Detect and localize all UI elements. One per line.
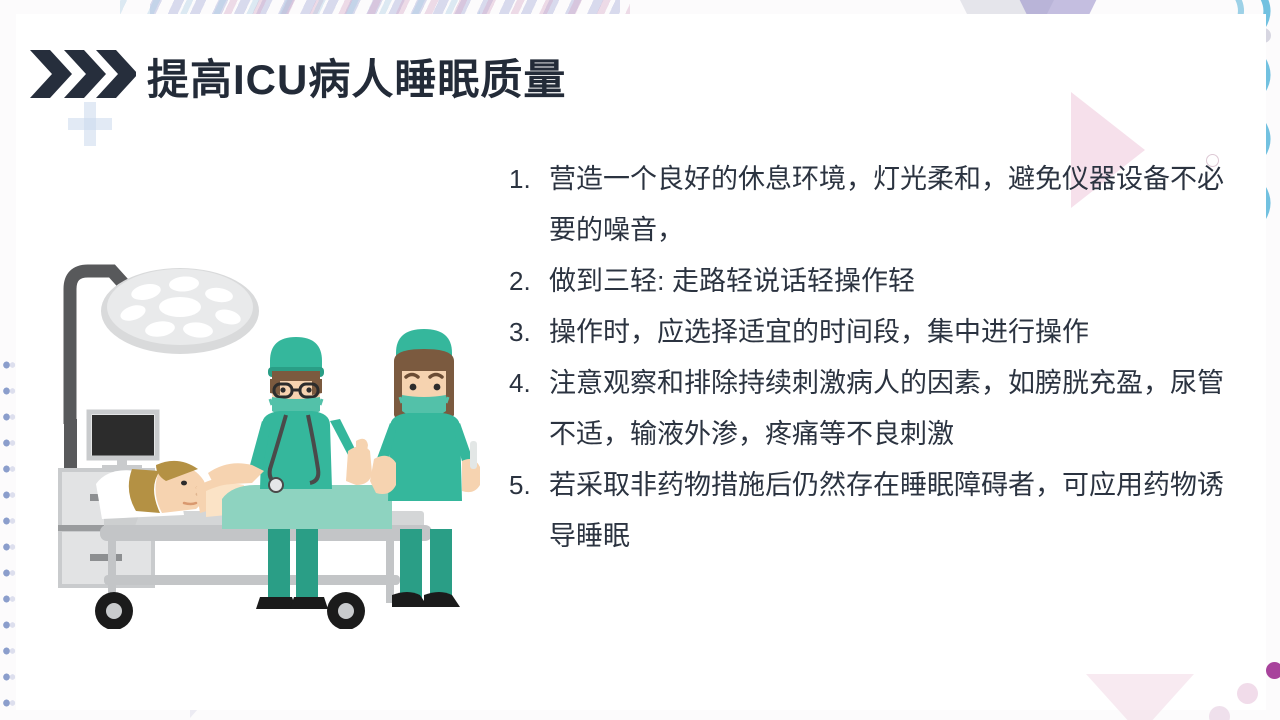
list-item-number: 2. [509,256,549,307]
slide-root: 提高ICU病人睡眠质量 [0,0,1280,720]
list-item-number: 3. [509,307,549,358]
list-item: 3. 操作时，应选择适宜的时间段，集中进行操作 [509,307,1249,358]
slide-card: 提高ICU病人睡眠质量 [16,14,1266,710]
slide-header: 提高ICU病人睡眠质量 [16,14,1266,126]
list-item: 4. 注意观察和排除持续刺激病人的因素，如膀胱充盈，尿管不适，输液外渗，疼痛等不… [509,358,1249,460]
triple-chevron-right-icon [28,48,136,100]
page-title: 提高ICU病人睡眠质量 [147,46,566,107]
list-item-number: 1. [509,154,549,205]
list-item: 2. 做到三轻: 走路轻说话轻操作轻 [509,256,1249,307]
list-item: 1. 营造一个良好的休息环境，灯光柔和，避免仪器设备不必要的噪音， [509,154,1249,256]
list-item-number: 5. [509,460,549,511]
operating-room-illustration [56,229,506,629]
list-item-text: 做到三轻: 走路轻说话轻操作轻 [549,256,1249,307]
list-item-text: 注意观察和排除持续刺激病人的因素，如膀胱充盈，尿管不适，输液外渗，疼痛等不良刺激 [549,358,1249,460]
list-item-number: 4. [509,358,549,409]
bullet-list: 1. 营造一个良好的休息环境，灯光柔和，避免仪器设备不必要的噪音， 2. 做到三… [509,154,1249,562]
list-item: 5. 若采取非药物措施后仍然存在睡眠障碍者，可应用药物诱导睡眠 [509,460,1249,562]
diagonal-dots-decor [1171,662,1280,720]
list-item-text: 营造一个良好的休息环境，灯光柔和，避免仪器设备不必要的噪音， [549,154,1249,256]
male-surgeon [208,337,372,609]
list-item-text: 若采取非药物措施后仍然存在睡眠障碍者，可应用药物诱导睡眠 [549,460,1249,562]
list-item-text: 操作时，应选择适宜的时间段，集中进行操作 [549,307,1249,358]
